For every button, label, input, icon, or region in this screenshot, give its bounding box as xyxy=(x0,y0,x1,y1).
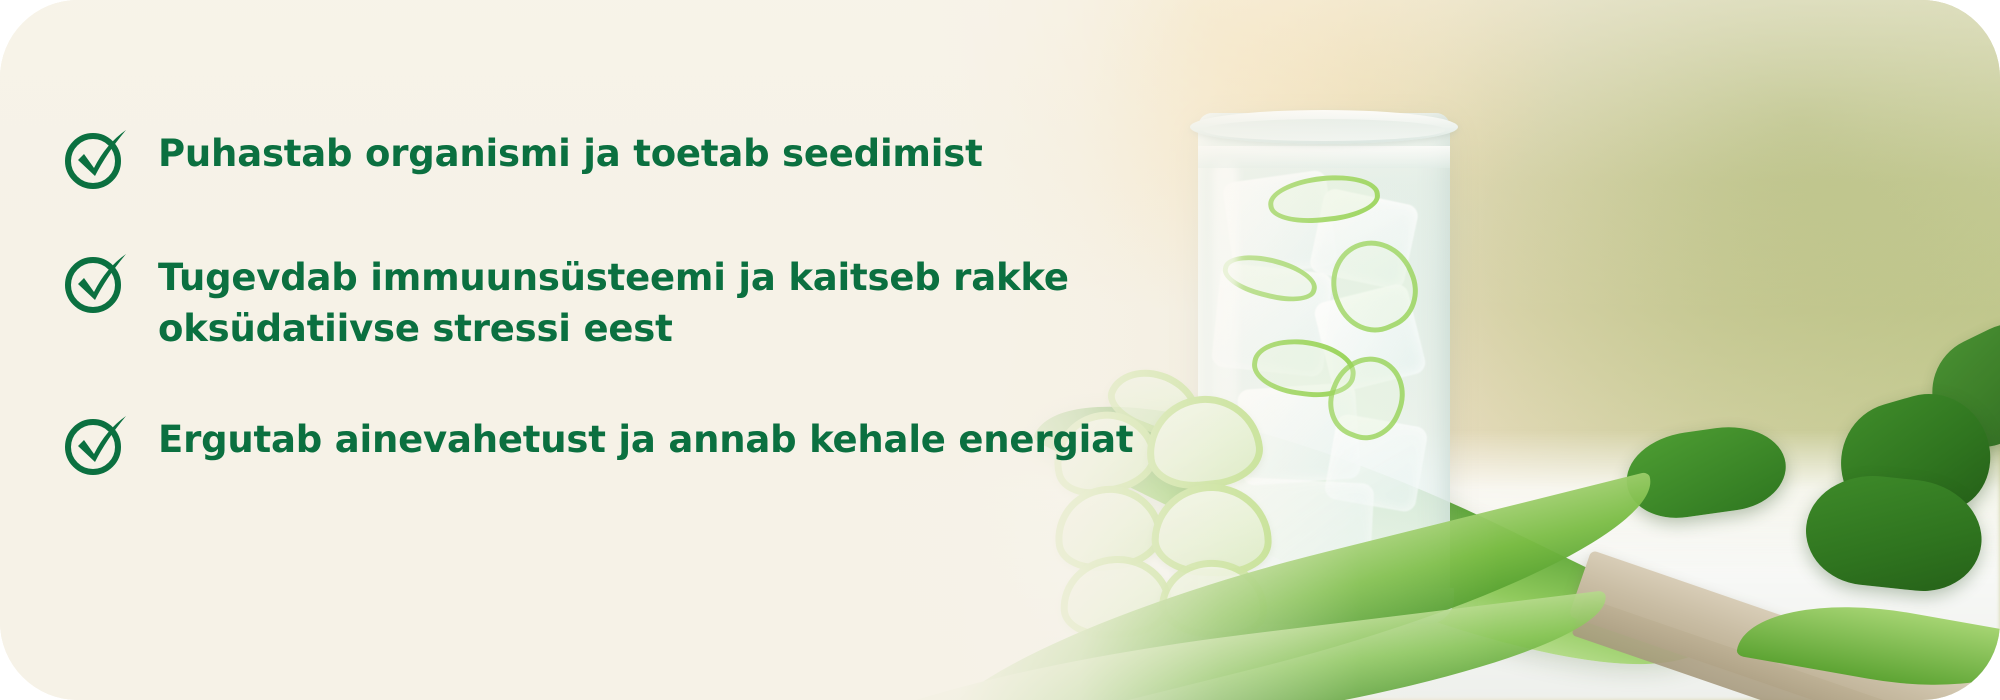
benefits-list: Puhastab organismi ja toetab seedimist T… xyxy=(62,122,1162,478)
benefits-banner: Puhastab organismi ja toetab seedimist T… xyxy=(0,0,2000,700)
check-circle-icon xyxy=(62,248,130,316)
benefit-text: Puhastab organismi ja toetab seedimist xyxy=(158,122,983,179)
check-circle-icon xyxy=(62,410,130,478)
benefit-item-3: Ergutab ainevahetust ja annab kehale ene… xyxy=(62,408,1162,478)
benefit-text: Ergutab ainevahetust ja annab kehale ene… xyxy=(158,408,1133,465)
benefit-text: Tugevdab immuunsüsteemi ja kaitseb rakke… xyxy=(158,246,1069,354)
benefit-item-2: Tugevdab immuunsüsteemi ja kaitseb rakke… xyxy=(62,246,1162,354)
benefit-item-1: Puhastab organismi ja toetab seedimist xyxy=(62,122,1162,192)
banner-content: Puhastab organismi ja toetab seedimist T… xyxy=(0,0,1200,700)
check-circle-icon xyxy=(62,124,130,192)
